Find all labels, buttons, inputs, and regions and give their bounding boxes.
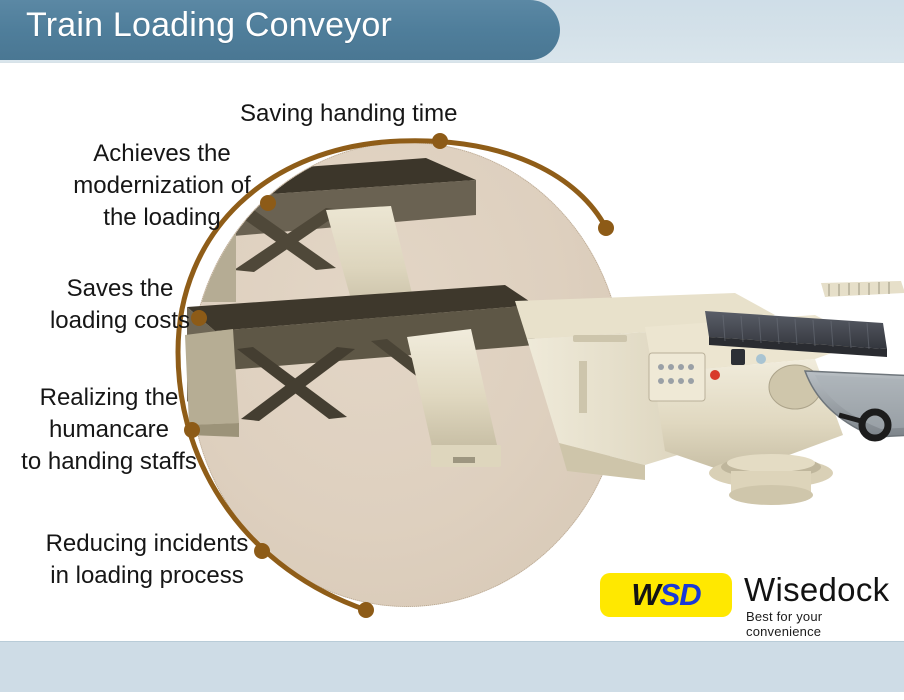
wisedock-logo: WSD Wisedock Best for your convenience (600, 573, 890, 623)
page-title: Train Loading Conveyor (26, 6, 392, 45)
machine-photo-overlay (175, 275, 904, 505)
arc-node-7 (358, 602, 374, 618)
callout-loading-costs: Saves the loading costs (40, 273, 200, 337)
brand-tagline: Best for your convenience (746, 609, 890, 639)
callout-humancare: Realizing the humancare to handing staff… (14, 382, 204, 478)
slide-canvas: Train Loading Conveyor (0, 0, 904, 700)
header-divider (0, 62, 904, 63)
wsd-letter-w: W (631, 577, 659, 613)
wsd-letters-sd: SD (660, 577, 701, 613)
callout-saving-handing-time: Saving handing time (240, 98, 457, 130)
wsd-logo-mark-text: WSD (600, 573, 732, 617)
brand-name: Wisedock (744, 571, 889, 609)
callout-modernization: Achieves the modernization of the loadin… (58, 138, 266, 234)
footer-band (0, 641, 904, 692)
callout-reducing-incidents: Reducing incidents in loading process (14, 528, 280, 592)
